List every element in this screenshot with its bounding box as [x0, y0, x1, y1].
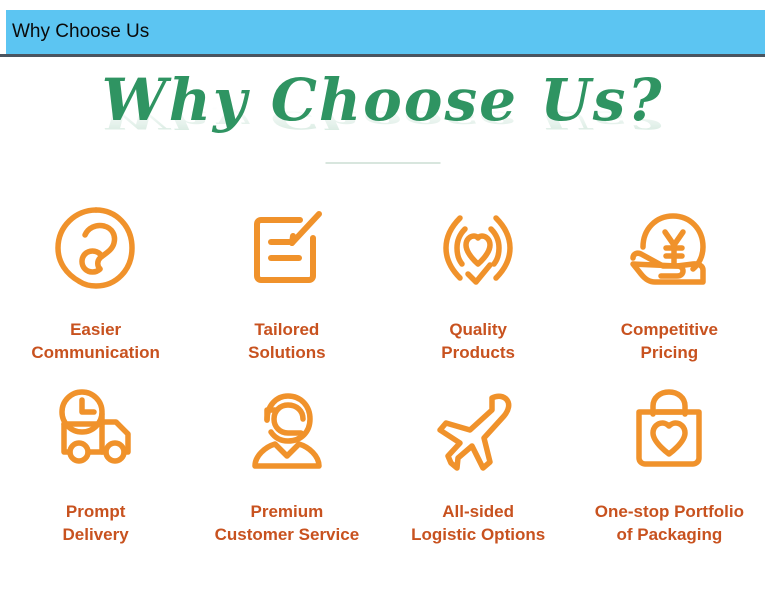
feature-label: Premium Customer Service [215, 500, 360, 546]
feature-label: One-stop Portfolio of Packaging [595, 500, 744, 546]
feature-label: Tailored Solutions [248, 318, 325, 364]
hero-heading: Why Choose Us? [0, 66, 765, 134]
document-pencil-icon [241, 196, 333, 300]
feature-item-one-stop-portfolio[interactable]: One-stop Portfolio of Packaging [574, 378, 765, 560]
airplane-icon [432, 378, 524, 482]
title-bar-divider [0, 54, 765, 57]
feature-item-prompt-delivery[interactable]: Prompt Delivery [0, 378, 191, 560]
delivery-truck-clock-icon [50, 378, 142, 482]
hero-section: Why Choose Us? Why Choose Us? [0, 58, 765, 173]
feature-label: Easier Communication [31, 318, 159, 364]
feature-item-premium-customer-service[interactable]: Premium Customer Service [191, 378, 382, 560]
window-title: Why Choose Us [12, 21, 149, 43]
heart-check-signal-icon [432, 196, 524, 300]
headset-agent-icon [241, 378, 333, 482]
feature-label: Competitive Pricing [621, 318, 718, 364]
shopping-bag-heart-icon [623, 378, 715, 482]
feature-item-tailored-solutions[interactable]: Tailored Solutions [191, 196, 382, 378]
feature-item-quality-products[interactable]: Quality Products [383, 196, 574, 378]
feature-label: Prompt Delivery [63, 500, 129, 546]
feature-grid: Easier Communication Tailored Solutions [0, 196, 765, 560]
ear-listening-icon [50, 196, 142, 300]
feature-item-all-sided-logistic-options[interactable]: All-sided Logistic Options [383, 378, 574, 560]
hand-yen-coin-icon [623, 196, 715, 300]
hero-divider [325, 162, 440, 164]
feature-label: All-sided Logistic Options [411, 500, 545, 546]
feature-label: Quality Products [441, 318, 515, 364]
feature-item-easier-communication[interactable]: Easier Communication [0, 196, 191, 378]
window-title-bar: Why Choose Us [6, 10, 765, 54]
feature-item-competitive-pricing[interactable]: Competitive Pricing [574, 196, 765, 378]
